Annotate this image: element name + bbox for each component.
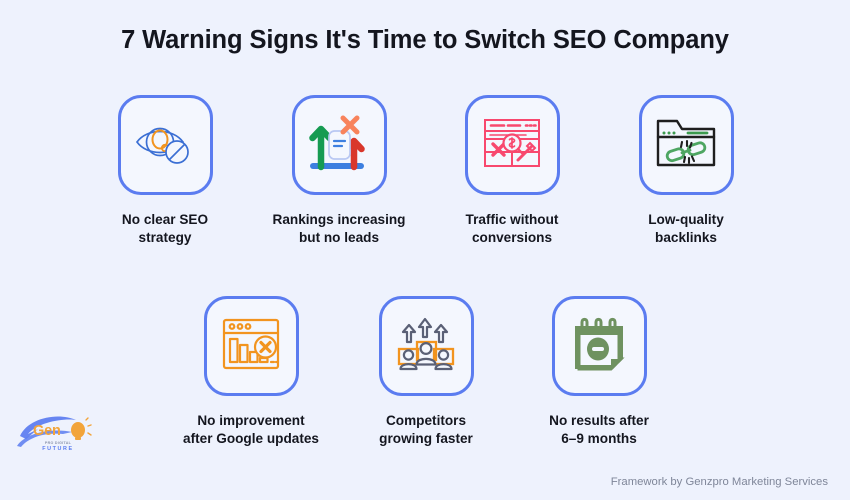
- browser-search-money-icon: [482, 116, 542, 175]
- icon-card-5[interactable]: [204, 296, 299, 396]
- page-title: 7 Warning Signs It's Time to Switch SEO …: [0, 26, 850, 55]
- item-traffic-without-conversions[interactable]: Traffic without conversions: [437, 95, 587, 247]
- item-no-improvement-after-google-updates[interactable]: No improvement after Google updates: [176, 296, 326, 448]
- item-label: Low-quality backlinks: [611, 211, 761, 247]
- arrows-up-no-leads-icon: [307, 112, 371, 179]
- icon-card-1[interactable]: [118, 95, 213, 195]
- logo-tagline-top: PRO DIGITAL: [34, 441, 82, 445]
- logo-tagline-bottom: FUTURE: [34, 446, 82, 452]
- icon-card-7[interactable]: [552, 296, 647, 396]
- brand-logo[interactable]: Gen PRO DIGITAL FUTURE: [14, 406, 92, 460]
- icon-card-6[interactable]: [379, 296, 474, 396]
- icon-card-2[interactable]: [292, 95, 387, 195]
- item-label: Competitors growing faster: [351, 412, 501, 448]
- icon-card-4[interactable]: [639, 95, 734, 195]
- infographic-page: 7 Warning Signs It's Time to Switch SEO …: [0, 0, 850, 500]
- item-label: No clear SEO strategy: [90, 211, 240, 247]
- item-no-results-after-6-9-months[interactable]: No results after 6–9 months: [524, 296, 674, 448]
- people-podium-up-arrows-icon: [395, 316, 457, 377]
- item-label: Traffic without conversions: [437, 211, 587, 247]
- eye-no-vision-icon: [133, 115, 197, 176]
- item-label: No improvement after Google updates: [176, 412, 326, 448]
- item-low-quality-backlinks[interactable]: Low-quality backlinks: [611, 95, 761, 247]
- item-competitors-growing-faster[interactable]: Competitors growing faster: [351, 296, 501, 448]
- item-label: No results after 6–9 months: [524, 412, 674, 448]
- logo-wordmark: Gen: [33, 423, 61, 439]
- item-label: Rankings increasing but no leads: [264, 211, 414, 247]
- item-rankings-increasing-but-no-leads[interactable]: Rankings increasing but no leads: [264, 95, 414, 247]
- item-no-clear-seo-strategy[interactable]: No clear SEO strategy: [90, 95, 240, 247]
- broken-link-browser-icon: [655, 116, 717, 175]
- footer-credit: Framework by Genzpro Marketing Services: [611, 476, 828, 488]
- calendar-minus-icon: [570, 316, 628, 377]
- icon-card-3[interactable]: [465, 95, 560, 195]
- declining-bar-chart-error-icon: [221, 316, 281, 377]
